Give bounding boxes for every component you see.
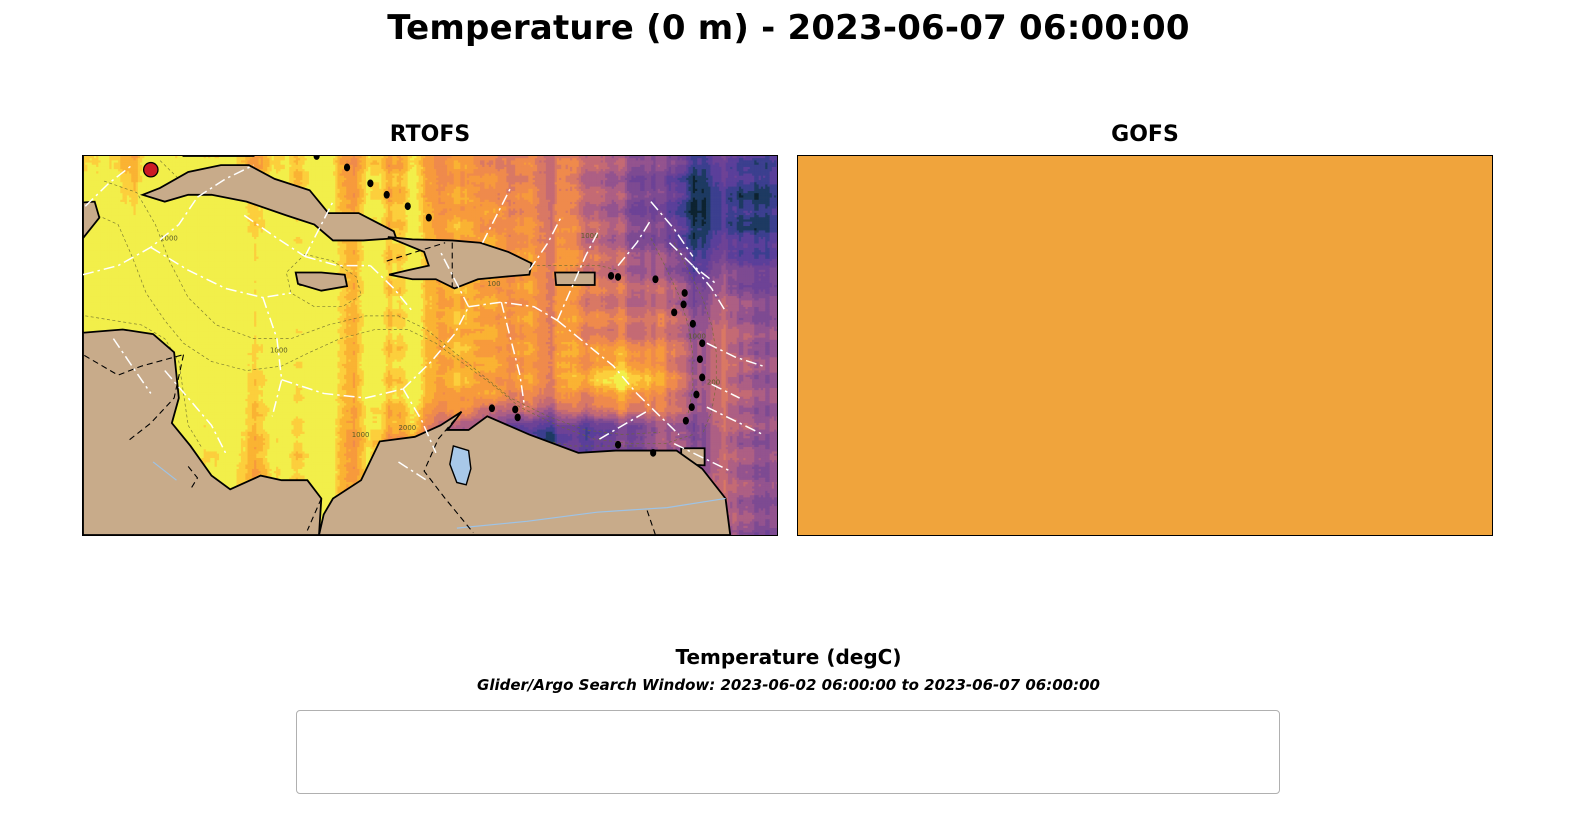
map-panel-gofs: GOFS bbox=[797, 155, 1493, 536]
platform-legend bbox=[296, 710, 1280, 794]
platform-markers bbox=[144, 163, 158, 177]
colorbar-label: Temperature (degC) bbox=[0, 645, 1577, 669]
map-frame-rtofs[interactable]: 1000200010001001000100020010001000100100… bbox=[82, 155, 778, 536]
map-panel-rtofs: RTOFS 1000200010001001000100020010001000… bbox=[82, 155, 778, 536]
search-window-caption: Glider/Argo Search Window: 2023-06-02 06… bbox=[0, 676, 1577, 694]
map-frame-gofs[interactable] bbox=[797, 155, 1493, 536]
marker-4903354[interactable] bbox=[144, 163, 158, 177]
page-title: Temperature (0 m) - 2023-06-07 06:00:00 bbox=[0, 8, 1577, 48]
colorbar bbox=[120, 590, 1457, 616]
panel-title-rtofs: RTOFS bbox=[82, 122, 778, 147]
panel-title-gofs: GOFS bbox=[797, 122, 1493, 147]
